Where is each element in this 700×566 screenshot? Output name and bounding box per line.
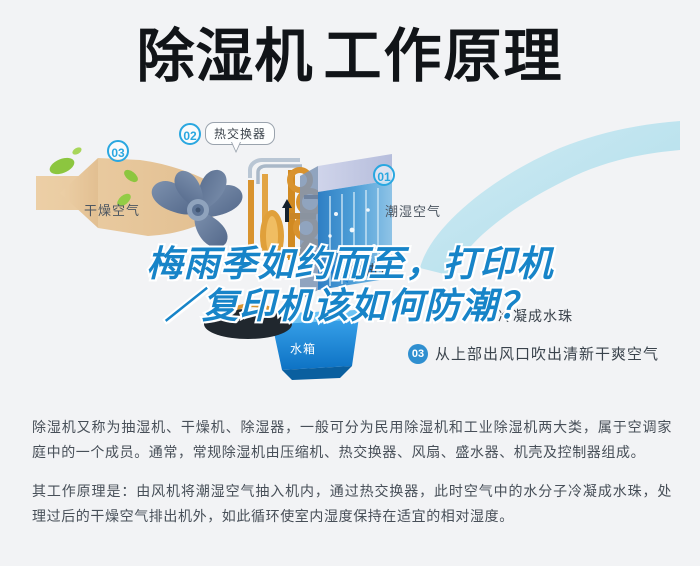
label-water-tank: 水箱: [290, 340, 316, 357]
badge-03-dry-air: 03: [107, 140, 129, 162]
label-dry-air: 干燥空气: [84, 200, 140, 219]
dehumidifier-diagram: 03 02 01 热交换器 干燥空气 潮湿空气 水箱 01 中进风 02 冷凝成…: [0, 118, 700, 398]
legend-row-03: 03 从上部出风口吹出清新干爽空气: [408, 343, 659, 364]
legend-text-02: 冷凝成水珠: [498, 306, 573, 326]
legend-badge-03: 03: [408, 344, 428, 364]
title-part-b: 工作原理: [324, 28, 564, 86]
title-part-a: 除湿机: [136, 28, 313, 86]
body-paragraph-1: 除湿机又称为抽湿机、干燥机、除湿器，一般可分为民用除湿机和工业除湿机两大类，属于…: [32, 415, 672, 465]
device-base: [204, 305, 292, 339]
page-title: 除湿机工作原理: [0, 28, 700, 86]
legend-row-01: 01 中进风: [350, 260, 395, 280]
legend-row-02: 02 冷凝成水珠: [498, 306, 573, 326]
body-paragraph-2: 其工作原理是：由风机将潮湿空气抽入机内，通过热交换器，此时空气中的水分子冷凝成水…: [32, 479, 672, 529]
badge-01-humid-air: 01: [373, 164, 395, 186]
legend-text-01: 中进风: [350, 260, 395, 280]
infographic-page: 除湿机工作原理: [0, 0, 700, 566]
legend-text-03: 从上部出风口吹出清新干爽空气: [435, 343, 659, 364]
article-body: 除湿机又称为抽湿机、干燥机、除湿器，一般可分为民用除湿机和工业除湿机两大类，属于…: [32, 415, 672, 529]
callout-tail-icon: [231, 142, 241, 153]
label-humid-air: 潮湿空气: [385, 201, 441, 220]
badge-02-heat-exchanger: 02: [179, 123, 201, 145]
